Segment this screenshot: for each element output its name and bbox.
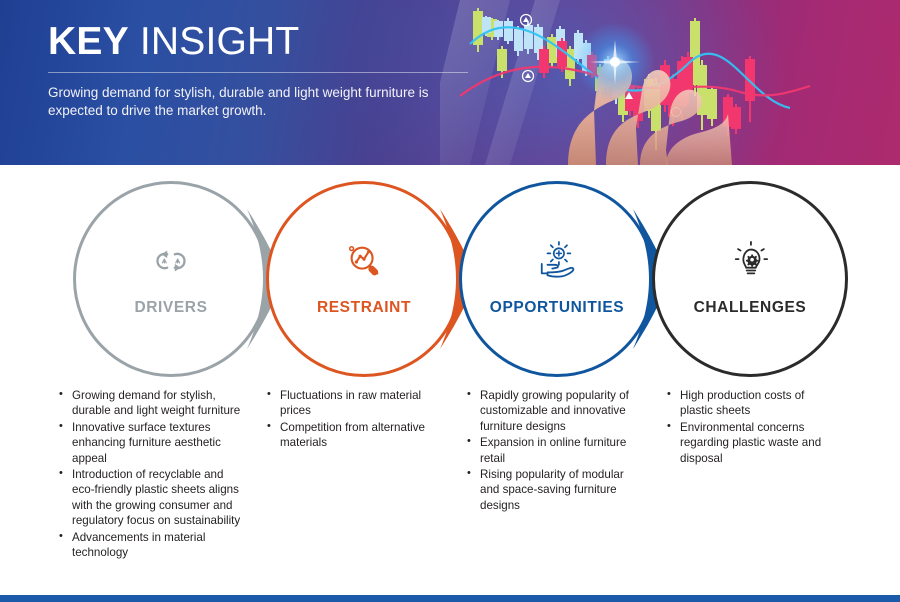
list-item: Introduction of recyclable and eco-frien… [56,467,242,529]
bullet-list-challenges: High production costs of plastic sheets … [664,388,836,466]
key-insight-infographic: KEY INSIGHT Growing demand for stylish, … [0,0,900,602]
title-divider [48,72,468,73]
header-subtitle: Growing demand for stylish, durable and … [48,84,478,120]
stage-label-drivers: DRIVERS [134,299,207,317]
page-title-light: INSIGHT [129,20,300,63]
page-title: KEY INSIGHT [48,22,478,63]
stage-label-restraint: RESTRAINT [317,299,411,317]
magnifier-chart-icon [341,241,387,281]
stage-label-challenges: CHALLENGES [694,299,807,317]
bullet-column-restraint: Fluctuations in raw material prices Comp… [264,388,444,452]
list-item: Expansion in online furniture retail [464,435,646,466]
list-item: Competition from alternative materials [264,420,444,451]
list-item: Advancements in material technology [56,530,242,561]
list-item: Growing demand for stylish, durable and … [56,388,242,419]
bullet-list-opportunities: Rapidly growing popularity of customizab… [464,388,646,513]
bullet-column-opportunities: Rapidly growing popularity of customizab… [464,388,646,514]
hero-candlestick-chart-image [440,0,900,165]
bullet-columns: Growing demand for stylish, durable and … [0,388,900,588]
stage-circle-opportunities[interactable]: OPPORTUNITIES [459,181,655,377]
list-item: Fluctuations in raw material prices [264,388,444,419]
list-item: Rising popularity of modular and space-s… [464,467,646,513]
bullet-column-challenges: High production costs of plastic sheets … [664,388,836,467]
page-title-bold: KEY [48,20,129,63]
bullet-list-drivers: Growing demand for stylish, durable and … [56,388,242,560]
stage-circle-drivers[interactable]: DRIVERS [73,181,269,377]
stage-circle-restraint[interactable]: RESTRAINT [266,181,462,377]
stage-circle-challenges[interactable]: CHALLENGES [652,181,848,377]
hand-idea-sun-icon [534,241,580,281]
list-item: Environmental concerns regarding plastic… [664,420,836,466]
footer-accent-bar [0,595,900,602]
stage-label-opportunities: OPPORTUNITIES [490,299,624,317]
list-item: Rapidly growing popularity of customizab… [464,388,646,434]
lightbulb-gear-icon [727,241,773,281]
header-banner: KEY INSIGHT Growing demand for stylish, … [0,0,900,165]
list-item: Innovative surface textures enhancing fu… [56,420,242,466]
list-item: High production costs of plastic sheets [664,388,836,419]
bullet-column-drivers: Growing demand for stylish, durable and … [56,388,242,561]
header-text-block: KEY INSIGHT Growing demand for stylish, … [48,22,478,120]
cycle-arrows-icon [148,241,194,281]
stage-circles-row: DRIVERS [0,165,900,390]
bullet-list-restraint: Fluctuations in raw material prices Comp… [264,388,444,451]
